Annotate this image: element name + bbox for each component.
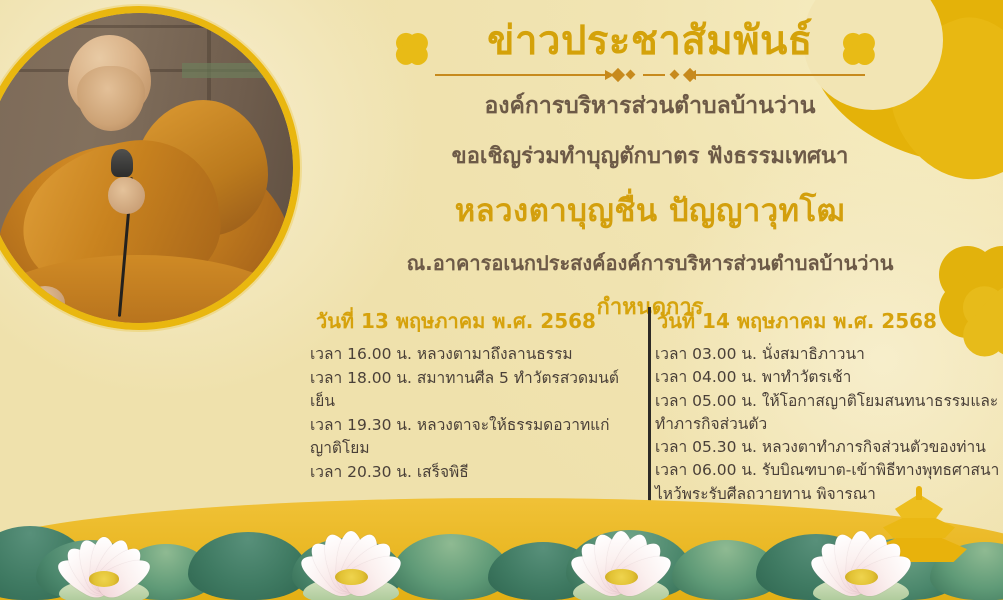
schedule-item: เวลา 05.00 น. ให้โอกาสญาติโยมสนทนาธรรมแล… [655,390,1000,413]
schedule-item: เวลา 18.00 น. สมาทานศีล 5 ทำวัตรสวดมนต์เ… [310,367,640,414]
schedule-column-divider [648,307,651,503]
venue-text: ณ.อาคารอเนกประสงค์องค์การบริหารส่วนตำบลบ… [300,247,1000,279]
lotus-core [605,569,638,586]
lotus-flower [34,504,174,600]
lotus-core [335,569,368,586]
schedule-item: เวลา 20.30 น. เสร็จพิธี [310,461,640,485]
lotus-core [89,571,120,586]
schedule-day2-heading: วันที่ 14 พฤษภาคม พ.ศ. 2568 [655,305,1000,337]
schedule-item: เวลา 19.30 น. หลวงตาจะให้ธรรมดอวาทแก่ญาต… [310,414,640,461]
lotus-flower [546,496,696,600]
schedule-item: เวลา 16.00 น. หลวงตามาถึงลานธรรม [310,343,640,367]
schedule-item: เวลา 04.00 น. พาทำวัตรเช้า [655,366,1000,389]
lotus-flower [276,496,426,600]
divider-line-right [693,74,865,76]
schedule-day1-heading: วันที่ 13 พฤษภาคม พ.ศ. 2568 [310,305,640,337]
schedule-item-continuation: ทำภารกิจส่วนตัว [655,413,1000,436]
schedule-item: เวลา 06.00 น. รับบิณฑบาต-เข้าพิธีทางพุทธ… [655,459,1000,482]
schedule-item: เวลา 05.30 น. หลวงตาทำภารกิจส่วนตัวของท่… [655,436,1000,459]
ornamental-divider [435,68,865,82]
monk-portrait [0,6,300,330]
invitation-text: ขอเชิญร่วมทำบุญตักบาตร ฟังธรรมเทศนา [300,138,1000,173]
divider-diamond-2 [626,70,636,80]
header-block: ข่าวประชาสัมพันธ์ องค์การบริหารส่วนตำบลบ… [300,18,1000,324]
monk-name: หลวงตาบุญชื่น ปัญญาวุทโฒ [300,185,1000,235]
organization-name: องค์การบริหารส่วนตำบลบ้านว่าน [300,88,1000,124]
divider-diamond-3 [670,70,680,80]
lotus-flower [786,496,936,600]
lotus-core [845,569,878,586]
divider-line-left [435,74,607,76]
divider-line-center [643,74,665,76]
schedule-column-day1: วันที่ 13 พฤษภาคม พ.ศ. 2568 เวลา 16.00 น… [310,305,640,484]
schedule-item: เวลา 03.00 น. นั่งสมาธิภาวนา [655,343,1000,366]
schedule-section: วันที่ 13 พฤษภาคม พ.ศ. 2568 เวลา 16.00 น… [300,305,1000,520]
page-title: ข่าวประชาสัมพันธ์ [300,18,1000,64]
poster-canvas: ข่าวประชาสัมพันธ์ องค์การบริหารส่วนตำบลบ… [0,0,1003,600]
